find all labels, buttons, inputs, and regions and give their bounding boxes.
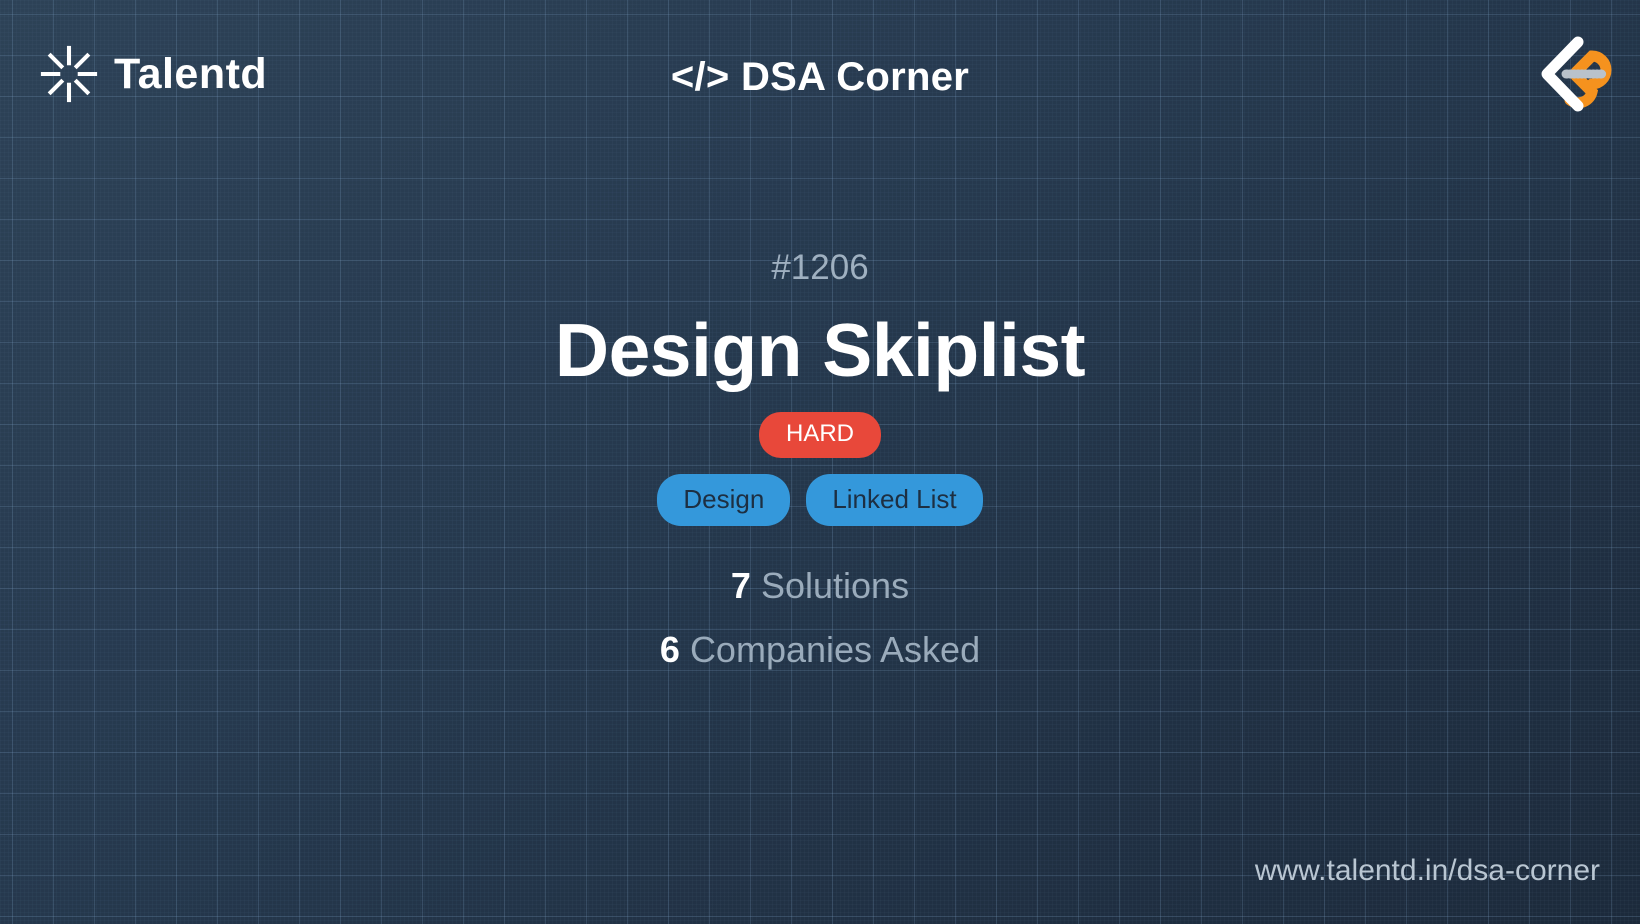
stat-solutions-label: Solutions (761, 565, 909, 606)
stat-companies-value: 6 (660, 629, 680, 670)
tag-linked-list[interactable]: Linked List (806, 474, 982, 526)
stat-solutions-value: 7 (731, 565, 751, 606)
header-bar: Talentd </> DSA Corner (0, 0, 1640, 155)
stat-companies-label: Companies Asked (690, 629, 980, 670)
problem-number: #1206 (0, 250, 1640, 285)
status-badge-difficulty: HARD (759, 412, 881, 458)
stat-companies: 6 Companies Asked (0, 632, 1640, 668)
tag-list: Design Linked List (0, 474, 1640, 526)
problem-title: Design Skiplist (0, 311, 1640, 390)
footer-url[interactable]: www.talentd.in/dsa-corner (1255, 856, 1600, 886)
tag-design[interactable]: Design (657, 474, 790, 526)
poster-canvas: Talentd </> DSA Corner #1206 Design Skip… (0, 0, 1640, 924)
stat-solutions: 7 Solutions (0, 568, 1640, 604)
difficulty-row: HARD (0, 412, 1640, 452)
problem-card: #1206 Design Skiplist HARD Design Linked… (0, 250, 1640, 696)
page-title: </> DSA Corner (0, 55, 1640, 100)
